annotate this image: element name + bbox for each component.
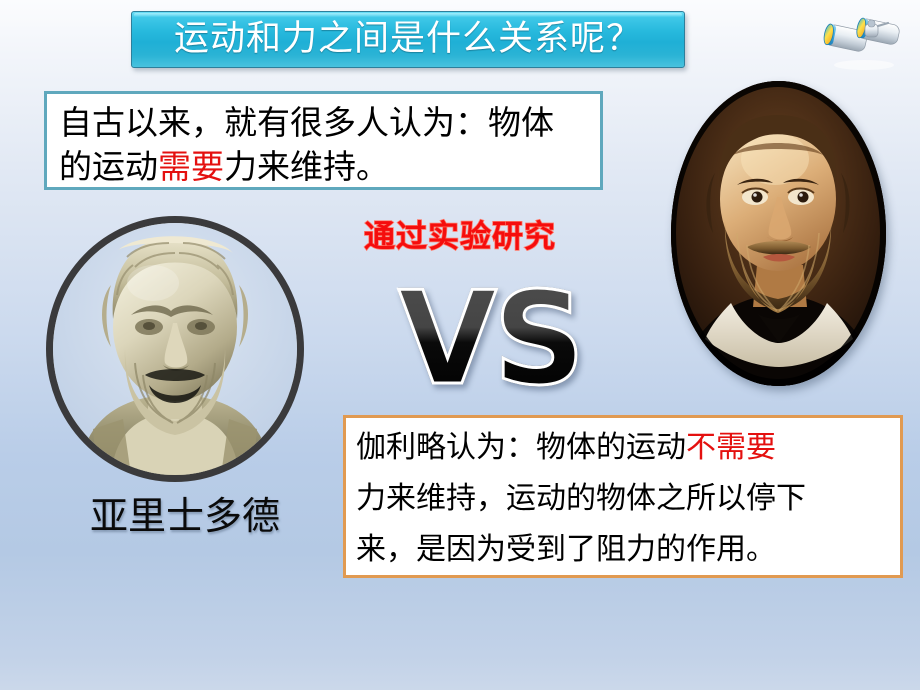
versus-graphic: VS (398, 276, 581, 404)
galileo-claim-highlight: 不需要 (686, 430, 776, 465)
aristotle-claim-line2-suffix: 力来维持。 (224, 147, 389, 186)
slide-title-banner: 运动和力之间是什么关系呢？ (131, 11, 685, 68)
aristotle-name-label: 亚里士多德 (60, 497, 310, 535)
galileo-portrait-image (671, 81, 886, 386)
galileo-claim-line-3: 来，是因为受到了阻力的作用。 (356, 524, 892, 575)
aristotle-claim-line-2: 的运动需要力来维持。 (59, 145, 590, 189)
galileo-claim-textbox: 伽利略认为：物体的运动不需要 力来维持，运动的物体之所以停下 来，是因为受到了阻… (343, 415, 903, 578)
aristotle-claim-line1-text: 自古以来，就有很多人认为：物体 (59, 103, 554, 142)
aristotle-claim-highlight: 需要 (158, 147, 224, 186)
aristotle-portrait-image (46, 216, 304, 482)
galileo-claim-line-2: 力来维持，运动的物体之所以停下 (356, 473, 892, 524)
binoculars-icon (818, 10, 910, 72)
aristotle-claim-textbox: 自古以来，就有很多人认为：物体 的运动需要力来维持。 (44, 91, 603, 190)
aristotle-claim-line2-prefix: 的运动 (59, 147, 158, 186)
page-title: 运动和力之间是什么关系呢？ (174, 22, 642, 57)
galileo-claim-line-1: 伽利略认为：物体的运动不需要 (356, 422, 892, 473)
aristotle-claim-line-1: 自古以来，就有很多人认为：物体 (59, 101, 590, 145)
galileo-claim-line1-prefix: 伽利略认为：物体的运动 (356, 430, 686, 465)
slide-canvas: 运动和力之间是什么关系呢？ (0, 0, 920, 690)
experiment-method-label: 通过实验研究 (364, 222, 556, 253)
